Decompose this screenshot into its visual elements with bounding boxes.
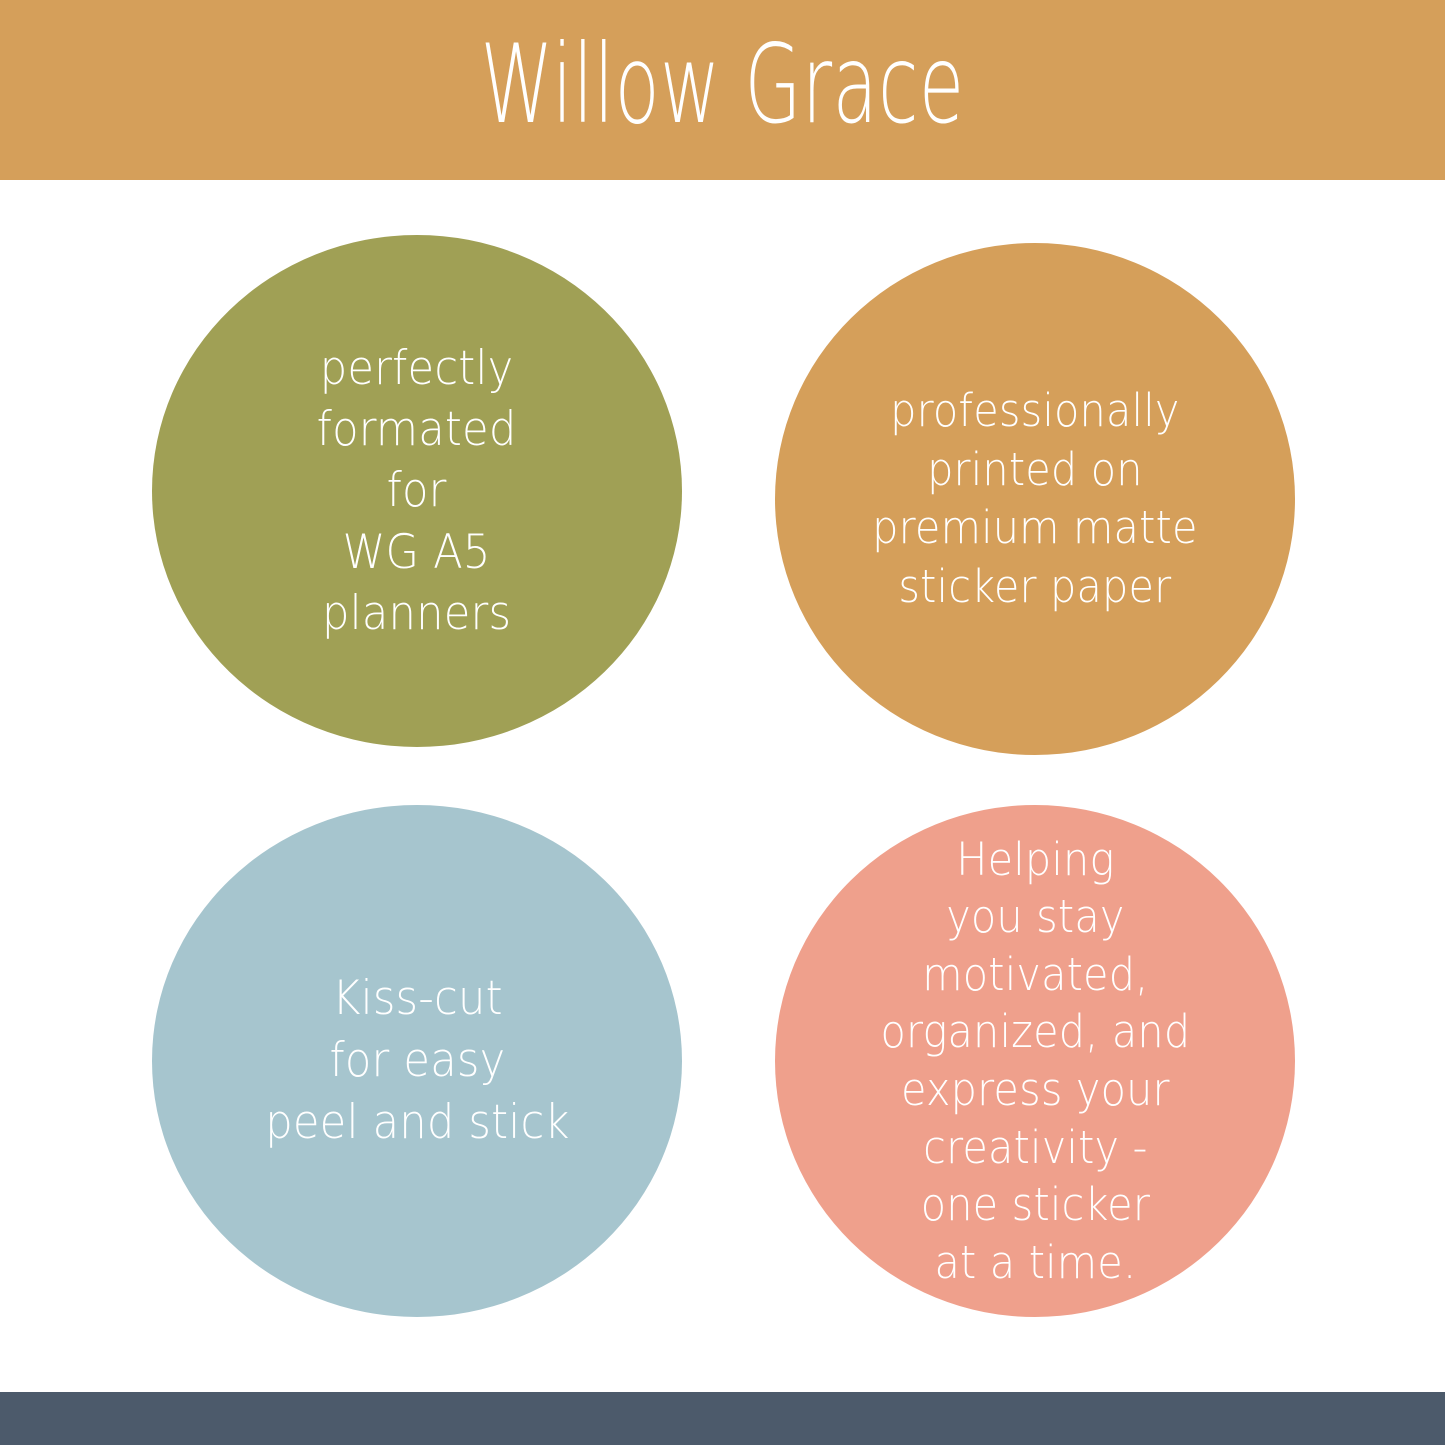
sticker-info-card: Willow Grace perfectly formated for WG A… — [0, 0, 1445, 1445]
feature-circle-printing: professionally printed on premium matte … — [775, 243, 1295, 755]
feature-circle-kisscut: Kiss-cut for easy peel and stick — [152, 805, 682, 1317]
feature-text-kisscut: Kiss-cut for easy peel and stick — [265, 968, 569, 1154]
feature-text-planners: perfectly formated for WG A5 planners — [317, 338, 517, 643]
feature-circle-planners: perfectly formated for WG A5 planners — [152, 235, 682, 747]
brand-banner: Willow Grace — [0, 0, 1445, 180]
feature-circle-grid: perfectly formated for WG A5 planners pr… — [0, 180, 1445, 1390]
feature-text-motivation: Helping you stay motivated, organized, a… — [880, 831, 1190, 1292]
feature-circle-motivation: Helping you stay motivated, organized, a… — [775, 805, 1295, 1317]
feature-text-printing: professionally printed on premium matte … — [872, 382, 1197, 616]
footer-bar — [0, 1392, 1445, 1445]
page-title: Willow Grace — [480, 31, 964, 149]
